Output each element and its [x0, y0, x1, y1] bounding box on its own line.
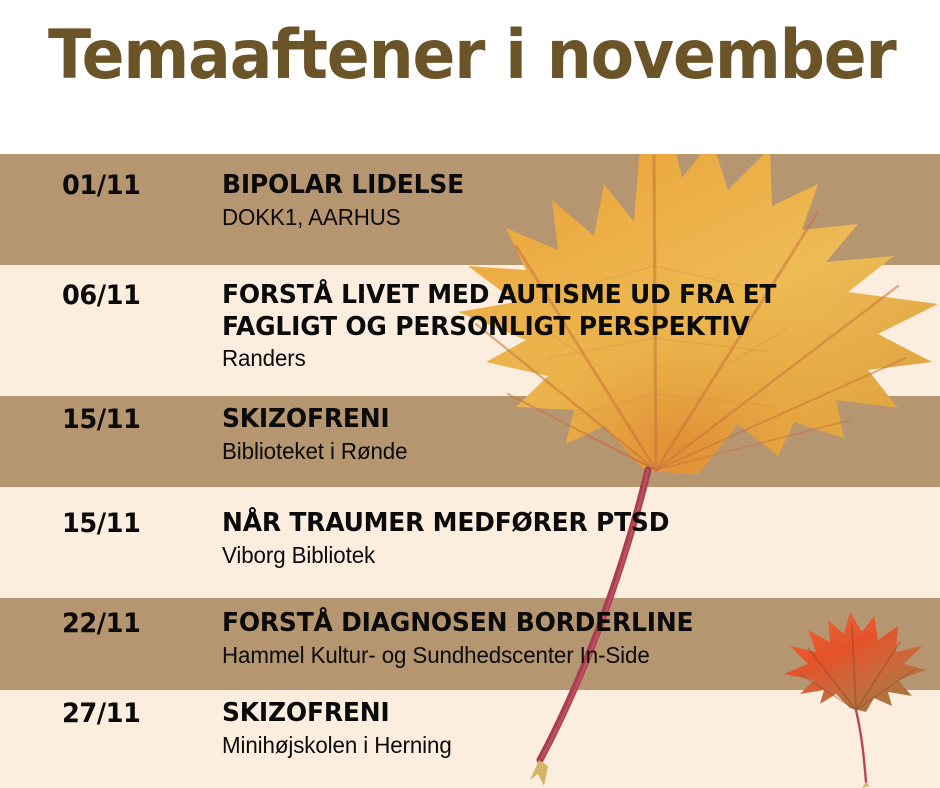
- event-title: FORSTÅ LIVET MED AUTISME UD FRA ET FAGLI…: [222, 280, 798, 343]
- event-date: 06/11: [62, 280, 205, 311]
- event-venue: Randers: [222, 345, 804, 373]
- event-poster: Temaaftener i november 01/11 BIPOLAR LID…: [0, 0, 940, 788]
- event-venue: DOKK1, AARHUS: [222, 204, 901, 232]
- event-body: FORSTÅ LIVET MED AUTISME UD FRA ET FAGLI…: [222, 280, 822, 373]
- event-date: 22/11: [62, 608, 205, 639]
- event-venue: Viborg Bibliotek: [222, 542, 901, 570]
- event-date: 15/11: [62, 508, 205, 539]
- event-body: NÅR TRAUMER MEDFØRER PTSD Viborg Bibliot…: [222, 508, 922, 569]
- event-body: FORSTÅ DIAGNOSEN BORDERLINE Hammel Kultu…: [222, 608, 922, 669]
- title-area: Temaaftener i november: [0, 0, 940, 154]
- event-title: BIPOLAR LIDELSE: [222, 170, 894, 202]
- event-date: 15/11: [62, 404, 205, 435]
- event-title: SKIZOFRENI: [222, 404, 894, 436]
- event-title: NÅR TRAUMER MEDFØRER PTSD: [222, 508, 894, 540]
- event-body: SKIZOFRENI Minihøjskolen i Herning: [222, 698, 922, 759]
- event-date: 27/11: [62, 698, 205, 729]
- event-title: FORSTÅ DIAGNOSEN BORDERLINE: [222, 608, 894, 640]
- page-title: Temaaftener i november: [48, 22, 896, 90]
- event-venue: Minihøjskolen i Herning: [222, 732, 901, 760]
- event-title: SKIZOFRENI: [222, 698, 894, 730]
- event-body: BIPOLAR LIDELSE DOKK1, AARHUS: [222, 170, 922, 231]
- event-venue: Biblioteket i Rønde: [222, 438, 901, 466]
- event-date: 01/11: [62, 170, 205, 201]
- event-venue: Hammel Kultur- og Sundhedscenter In-Side: [222, 642, 901, 670]
- event-body: SKIZOFRENI Biblioteket i Rønde: [222, 404, 922, 465]
